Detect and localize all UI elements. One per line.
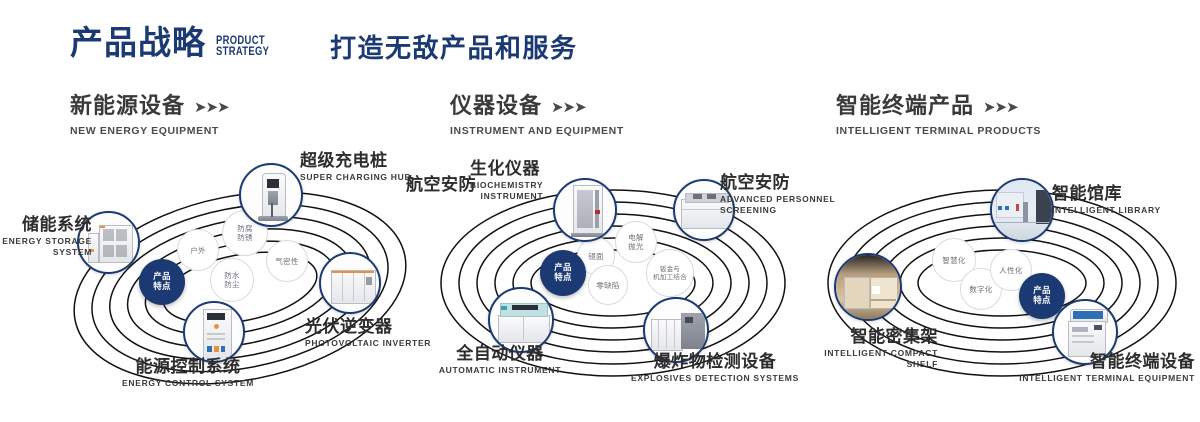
label-en: BIOCHEMISTRYINSTRUMENT [470, 180, 543, 202]
photovoltaic-inverter-icon [321, 254, 379, 312]
label-en: ENERGY CONTROL SYSTEM [78, 378, 298, 389]
page-title-cn: 产品战略 [70, 26, 206, 59]
label-biochemistry-instrument: 生化仪器 BIOCHEMISTRYINSTRUMENT [470, 160, 543, 202]
section-title-en: INSTRUMENT AND EQUIPMENT [450, 125, 624, 137]
node-intelligent-compact-shelf[interactable] [834, 253, 902, 321]
section-title-en: NEW ENERGY EQUIPMENT [70, 125, 229, 137]
chevron-right-icon: ➤➤➤ [983, 100, 1018, 115]
label-aviation-security-left: 航空安防 [406, 176, 476, 195]
intelligent-library-icon [992, 180, 1052, 240]
feature-bubble-label: 户外 [190, 246, 206, 255]
feature-bubble-label: 电解抛光 [628, 233, 644, 251]
feature-bubble: 户外 [177, 229, 219, 271]
page-title-en-line2: STRATEGY [216, 47, 269, 58]
label-cn: 全自动仪器 [400, 345, 600, 364]
node-photovoltaic-inverter[interactable] [319, 252, 381, 314]
label-cn: 能源控制系统 [78, 358, 298, 377]
compact-shelf-icon [836, 255, 900, 319]
label-energy-control-system: 能源控制系统 ENERGY CONTROL SYSTEM [78, 358, 298, 389]
energy-control-cabinet-icon [185, 303, 243, 361]
label-intelligent-terminal-equipment: 智能终端设备 INTELLIGENT TERMINAL EQUIPMENT [960, 353, 1195, 384]
label-super-charging-hub: 超级充电桩 SUPER CHARGING HUB [300, 152, 411, 183]
page-subtitle: 打造无敌产品和服务 [330, 36, 578, 62]
label-en: INTELLIGENT COMPACTSHELF [790, 348, 938, 370]
core-bubble-product-features: 产品特点 [139, 259, 185, 305]
core-bubble-label: 产品特点 [1033, 286, 1051, 306]
section-title-cn: 仪器设备 [450, 96, 542, 118]
label-cn: 智能密集架 [790, 328, 938, 347]
label-cn: 智能馆库 [1052, 185, 1161, 204]
feature-bubble-label: 人性化 [999, 266, 1022, 275]
section-title-en: INTELLIGENT TERMINAL PRODUCTS [836, 125, 1041, 137]
feature-bubble-label: 智慧化 [942, 256, 965, 265]
label-automatic-instrument: 全自动仪器 AUTOMATIC INSTRUMENT [400, 345, 600, 376]
page-title-en: PRODUCT STRATEGY [216, 36, 269, 58]
label-en: INTELLIGENT TERMINAL EQUIPMENT [960, 373, 1195, 384]
label-cn: 生化仪器 [470, 160, 543, 179]
label-intelligent-compact-shelf: 智能密集架 INTELLIGENT COMPACTSHELF [790, 328, 938, 370]
label-cn: 智能终端设备 [960, 353, 1195, 372]
node-super-charging-hub[interactable] [239, 163, 303, 227]
feature-bubble-label: 钣金与机加工结合 [653, 265, 687, 281]
label-en: SUPER CHARGING HUB [300, 172, 411, 183]
product-strategy-infographic: 产品战略 PRODUCT STRATEGY 打造无敌产品和服务 新能源设备 ➤➤… [0, 0, 1200, 422]
chevron-right-icon: ➤➤➤ [551, 100, 586, 115]
super-charging-hub-icon [241, 165, 301, 225]
node-biochemistry-instrument[interactable] [553, 178, 617, 242]
feature-bubble: 零缺陷 [588, 265, 628, 305]
label-cn: 超级充电桩 [300, 152, 411, 171]
feature-bubble-label: 零缺陷 [596, 281, 619, 290]
label-intelligent-library: 智能馆库 INTELLIGENT LIBRARY [1052, 185, 1161, 216]
automatic-instrument-icon [490, 289, 552, 351]
section-title-cn: 智能终端产品 [836, 96, 974, 118]
label-en: INTELLIGENT LIBRARY [1052, 205, 1161, 216]
feature-bubble: 防水防尘 [210, 258, 254, 302]
feature-bubble-label: 数字化 [969, 285, 992, 294]
feature-bubble: 气密性 [266, 240, 308, 282]
section-title-cn: 新能源设备 [70, 96, 185, 118]
feature-bubble-label: 防水防尘 [224, 271, 240, 289]
feature-bubble-label: 防腐防锈 [237, 224, 253, 242]
label-energy-storage: 储能系统 ENERGY STORAGESYSTEM [0, 216, 92, 258]
biochemistry-instrument-icon [555, 180, 615, 240]
section-title-new-energy: 新能源设备 ➤➤➤ NEW ENERGY EQUIPMENT [70, 96, 229, 137]
core-bubble-label: 产品特点 [153, 272, 171, 292]
label-en: ENERGY STORAGESYSTEM [0, 236, 92, 258]
feature-bubble-label: 镜面 [588, 252, 604, 261]
node-intelligent-library[interactable] [990, 178, 1054, 242]
label-cn: 光伏逆变器 [305, 318, 431, 337]
label-cn: 储能系统 [0, 216, 92, 235]
label-en: EXPLOSIVES DETECTION SYSTEMS [605, 373, 825, 384]
feature-bubble-label: 气密性 [275, 257, 298, 266]
node-energy-control-system[interactable] [183, 301, 245, 363]
section-title-intelligent-terminal: 智能终端产品 ➤➤➤ INTELLIGENT TERMINAL PRODUCTS [836, 96, 1041, 137]
label-cn: 航空安防 [406, 176, 476, 195]
feature-bubble: 钣金与机加工结合 [646, 249, 694, 297]
core-bubble-label: 产品特点 [554, 263, 572, 283]
chevron-right-icon: ➤➤➤ [194, 100, 229, 115]
section-title-instrument: 仪器设备 ➤➤➤ INSTRUMENT AND EQUIPMENT [450, 96, 624, 137]
page-title: 产品战略 PRODUCT STRATEGY [70, 26, 281, 59]
label-en: AUTOMATIC INSTRUMENT [400, 365, 600, 376]
